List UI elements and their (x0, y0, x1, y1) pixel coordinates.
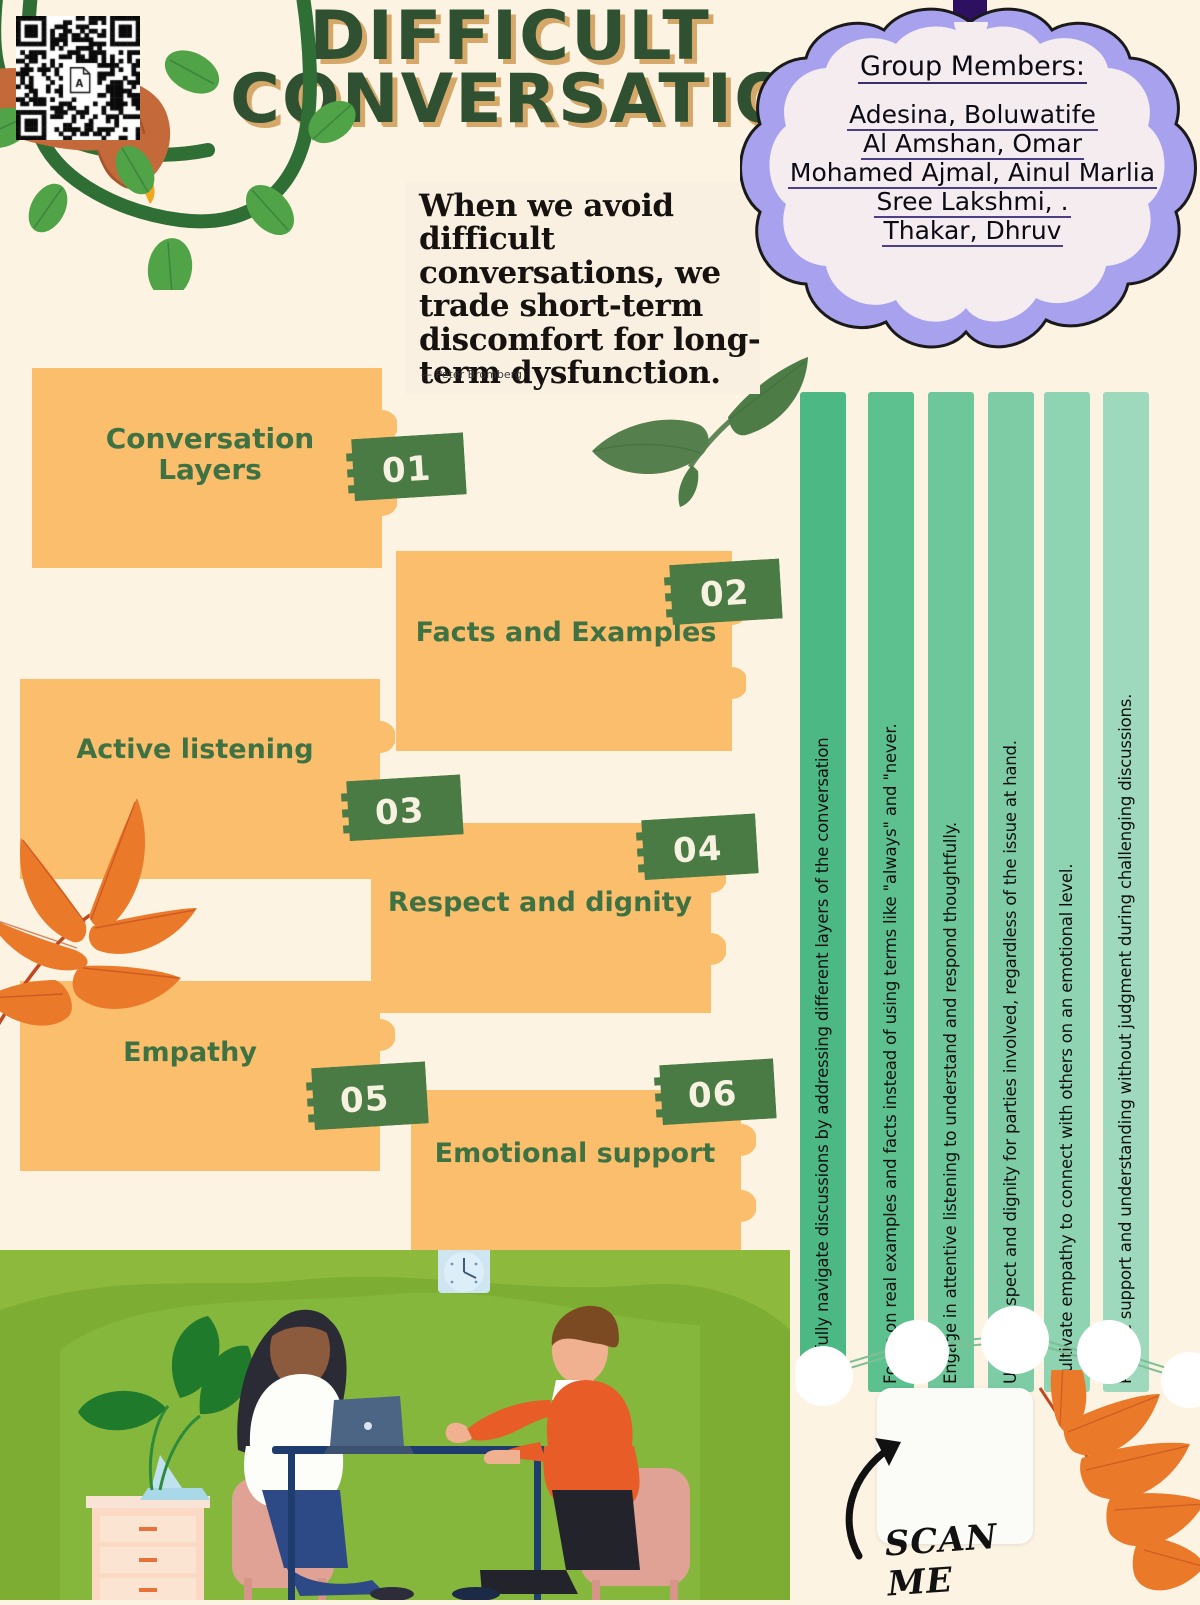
description-text-4: Uphold respect and dignity for parties i… (988, 392, 1034, 1384)
description-text-1: Skillfully navigate discussions by addre… (800, 392, 846, 1384)
description-text-6: Provide support and understanding withou… (1103, 392, 1149, 1384)
step-ticket-1 (343, 432, 467, 501)
step-ticket-6 (651, 1058, 776, 1125)
poster-canvas: Conversation Layers Facts and Examples A… (0, 0, 1200, 1600)
description-strips: Skillfully navigate discussions by addre… (795, 392, 1200, 1392)
step-ticket-5 (303, 1061, 429, 1130)
conversation-illustration (0, 1250, 790, 1600)
page-title: DIFFICULT CONVERSATIONS (230, 6, 790, 131)
description-strip-2: Focus on real examples and facts instead… (868, 392, 914, 1392)
step-ticket-2 (661, 558, 782, 625)
step-ticket-3 (338, 774, 463, 841)
description-strip-6: Provide support and understanding withou… (1103, 392, 1149, 1392)
description-strip-5: Cultivate empathy to connect with others… (1044, 392, 1090, 1392)
group-members-cloud (740, 0, 1200, 378)
quote-text: When we avoid difficult conversations, w… (419, 190, 764, 391)
step-ticket-4 (633, 813, 758, 880)
quote-card: When we avoid difficult conversations, w… (405, 182, 760, 394)
description-strip-1: Skillfully navigate discussions by addre… (800, 392, 846, 1392)
description-strip-4: Uphold respect and dignity for parties i… (988, 392, 1034, 1392)
description-text-5: Cultivate empathy to connect with others… (1044, 392, 1090, 1384)
qr-code-image[interactable] (16, 16, 140, 140)
step-block-1 (32, 368, 397, 568)
description-strip-3: Engage in attentive listening to underst… (928, 392, 974, 1392)
quote-author: — Peter Bromberg (421, 368, 522, 381)
scan-me-caption: SCAN ME (883, 1511, 1078, 1604)
step-block-3 (20, 679, 395, 879)
description-text-3: Engage in attentive listening to underst… (928, 392, 974, 1384)
title-line-2: CONVERSATIONS (230, 69, 790, 132)
description-text-2: Focus on real examples and facts instead… (868, 392, 914, 1384)
